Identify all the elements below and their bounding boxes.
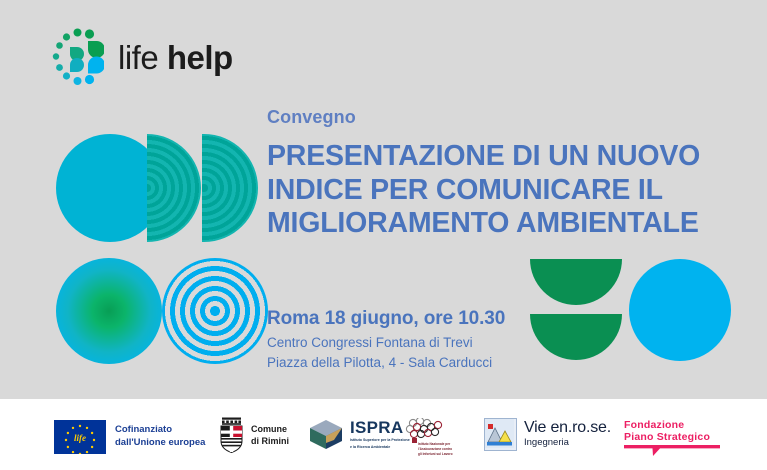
- ispra-mark-icon: [308, 418, 344, 451]
- headline-line-1: PRESENTAZIONE DI UN NUOVO: [267, 140, 727, 174]
- eu-label: Cofinanziato dall'Unione europea: [115, 424, 205, 450]
- eu-flag-icon: life: [54, 420, 106, 454]
- decor-group-top-left: [56, 134, 240, 242]
- brand-word-life: life: [118, 39, 158, 76]
- logo-vie-enrose: Vie en.ro.se. Ingegneria: [484, 418, 611, 451]
- molecular-subtitle-line-3: gli Infortuni sul Lavoro: [418, 452, 453, 457]
- ispra-subtitle-line-1: Istituto Superiore per la Protezione: [350, 438, 410, 443]
- molecular-subtitle-line-2: l'Assicurazione contro: [418, 447, 453, 452]
- event-details: Roma 18 giugno, ore 10.30 Centro Congres…: [267, 308, 687, 372]
- fondazione-line-1: Fondazione: [624, 419, 720, 431]
- copy-block: Convegno PRESENTAZIONE DI UN NUOVO INDIC…: [267, 107, 727, 241]
- eu-label-line-1: Cofinanziato: [115, 424, 205, 437]
- page-title: PRESENTAZIONE DI UN NUOVO INDICE PER COM…: [267, 140, 727, 241]
- poster-canvas: life help Convegno PRESENTAZIONE DI UN N…: [0, 0, 767, 470]
- logo-european-union: life Cofinanziato dall'Unione europea: [54, 420, 205, 454]
- logo-comune-di-rimini: Comune di Rimini: [219, 417, 289, 453]
- logo-molecular-institute: Istituto Nazionale per l'Assicurazione c…: [404, 418, 466, 456]
- rimini-label-line-2: di Rimini: [251, 435, 289, 447]
- decor-gradient-circle-icon: [56, 258, 162, 364]
- decor-group-bottom-left: [56, 258, 242, 364]
- headline-line-2: INDICE PER COMUNICARE IL: [267, 174, 727, 208]
- vie-name: Vie en.ro.se.: [524, 420, 611, 437]
- rimini-crest-icon: [219, 417, 244, 453]
- decor-half-circle-rings-icon: [147, 134, 201, 242]
- logo-fondazione-piano-strategico: Fondazione Piano Strategico: [624, 419, 720, 453]
- event-datetime: Roma 18 giugno, ore 10.30: [267, 308, 687, 330]
- vie-landscape-icon: [484, 418, 517, 451]
- decor-half-circle-green-icon: [530, 259, 622, 305]
- headline-line-3: MIGLIORAMENTO AMBIENTALE: [267, 207, 727, 241]
- brand-logo: life help: [52, 28, 233, 86]
- speech-bubble-underline-icon: [624, 445, 720, 457]
- rimini-label-line-1: Comune: [251, 423, 289, 435]
- fondazione-line-2: Piano Strategico: [624, 431, 720, 443]
- eu-label-line-2: dall'Unione europea: [115, 437, 205, 450]
- rimini-label: Comune di Rimini: [251, 423, 289, 447]
- svg-text:life: life: [74, 433, 86, 443]
- brand-word-help: help: [167, 39, 233, 76]
- ispra-name: ISPRA: [350, 419, 410, 436]
- brand-wordmark: life help: [118, 41, 233, 74]
- life-help-dots-logo-icon: [52, 28, 104, 86]
- logo-ispra: ISPRA Istituto Superiore per la Protezio…: [308, 418, 410, 451]
- event-address: Piazza della Pilotta, 4 - Sala Carducci: [267, 353, 687, 373]
- ispra-subtitle-line-2: e la Ricerca Ambientale: [350, 445, 410, 450]
- molecular-subtitle: Istituto Nazionale per l'Assicurazione c…: [418, 442, 453, 456]
- vie-subtitle: Ingegneria: [524, 437, 611, 448]
- decor-concentric-rings-icon: [162, 258, 268, 364]
- kicker-label: Convegno: [267, 107, 727, 128]
- decor-half-circle-rings-icon: [202, 134, 258, 242]
- event-venue: Centro Congressi Fontana di Trevi: [267, 333, 687, 353]
